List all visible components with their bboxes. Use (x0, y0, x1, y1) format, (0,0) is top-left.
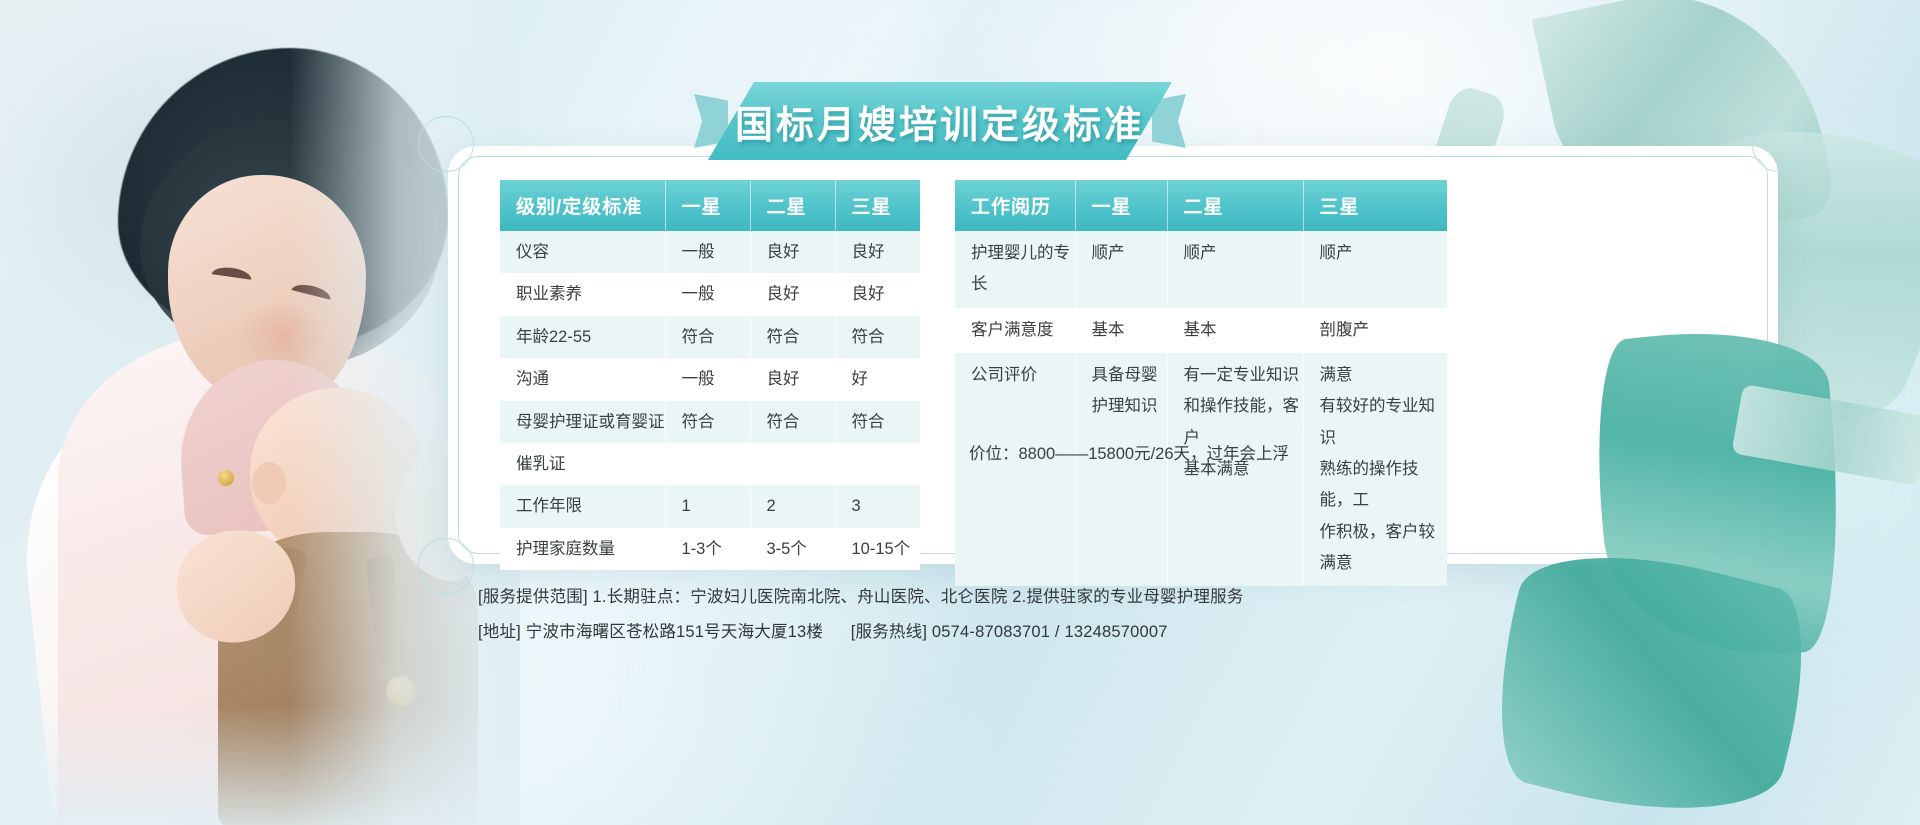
photo-edge-fade (0, 705, 520, 825)
cell-one-star: 一般 (665, 358, 750, 400)
table-row: 公司评价 具备母婴护理知识 有一定专业知识和操作技能，客户基本满意 满意有较好的… (955, 353, 1447, 586)
table-row: 职业素养 一般 良好 良好 (500, 273, 920, 315)
table-row: 客户满意度 基本 基本 剖腹产 (955, 308, 1447, 353)
row-label: 公司评价 (955, 353, 1075, 586)
table-row: 年龄22-55 符合 符合 符合 (500, 316, 920, 358)
price-note: 价位：8800——15800元/26天，过年会上浮 (955, 425, 1447, 464)
cell-two-star: 有一定专业知识和操作技能，客户基本满意 (1167, 353, 1303, 586)
cell-one-star: 基本 (1075, 308, 1167, 353)
row-label: 护理家庭数量 (500, 528, 665, 570)
row-label: 催乳证 (500, 443, 665, 485)
cell-one-star: 1-3个 (665, 528, 750, 570)
table-body: 仪容 一般 良好 良好 职业素养 一般 良好 良好 年龄22-55 符合 符合 … (500, 231, 920, 570)
cell-three-star: 剖腹产 (1303, 308, 1447, 353)
card-corner-notch (418, 116, 474, 172)
table-header: 工作阅历 一星 二星 三星 (955, 180, 1447, 231)
service-scope-line: [服务提供范围] 1.长期驻点：宁波妇儿医院南北院、舟山医院、北仑医院 2.提供… (478, 580, 1478, 615)
cell-three-star: 10-15个 (835, 528, 920, 570)
row-label: 仪容 (500, 231, 665, 273)
column-header-two-star[interactable]: 二星 (750, 180, 835, 231)
cell-one-star: 具备母婴护理知识 (1075, 353, 1167, 586)
table-row: 催乳证 (500, 443, 920, 485)
cell-three-star: 符合 (835, 316, 920, 358)
column-header-experience[interactable]: 工作阅历 (955, 180, 1075, 231)
column-header-one-star[interactable]: 一星 (665, 180, 750, 231)
cell-three-star: 良好 (835, 273, 920, 315)
cell-one-star: 顺产 (1075, 231, 1167, 308)
title-ribbon: 国标月嫂培训定级标准 (700, 82, 1180, 160)
row-label: 客户满意度 (955, 308, 1075, 353)
header-row: 工作阅历 一星 二星 三星 (955, 180, 1447, 231)
card-corner-notch (418, 538, 474, 594)
cell-two-star: 良好 (750, 273, 835, 315)
row-label: 母婴护理证或育婴证 (500, 401, 665, 443)
cell-three-star: 顺产 (1303, 231, 1447, 308)
cell-one-star: 一般 (665, 273, 750, 315)
header-row: 级别/定级标准 一星 二星 三星 (500, 180, 920, 231)
work-experience-table: 工作阅历 一星 二星 三星 护理婴儿的专长 顺产 顺产 顺产 客户满意度 基本 … (955, 180, 1447, 586)
baby-ear (252, 462, 286, 504)
title-banner: 国标月嫂培训定级标准 (708, 82, 1172, 160)
cell-one-star (665, 443, 750, 485)
row-label: 职业素养 (500, 273, 665, 315)
cell-three-star: 好 (835, 358, 920, 400)
column-header-three-star[interactable]: 三星 (835, 180, 920, 231)
table-body: 护理婴儿的专长 顺产 顺产 顺产 客户满意度 基本 基本 剖腹产 公司评价 具备… (955, 231, 1447, 586)
lapel-pin (218, 470, 234, 486)
hotline-text[interactable]: [服务热线] 0574-87083701 / 13248570007 (851, 623, 1168, 641)
column-header-two-star[interactable]: 二星 (1167, 180, 1303, 231)
column-header-criteria[interactable]: 级别/定级标准 (500, 180, 665, 231)
cell-three-star: 满意有较好的专业知识熟练的操作技能，工作积极，客户较满意 (1303, 353, 1447, 586)
cell-two-star: 良好 (750, 358, 835, 400)
table-row: 护理婴儿的专长 顺产 顺产 顺产 (955, 231, 1447, 308)
row-label: 沟通 (500, 358, 665, 400)
card-corner-notch (1752, 116, 1808, 172)
cell-three-star: 符合 (835, 401, 920, 443)
address-text: [地址] 宁波市海曙区苍松路151号天海大厦13楼 (478, 623, 823, 641)
cell-two-star: 符合 (750, 401, 835, 443)
table-header: 级别/定级标准 一星 二星 三星 (500, 180, 920, 231)
cell-one-star: 符合 (665, 316, 750, 358)
cell-two-star: 良好 (750, 231, 835, 273)
cell-two-star: 基本 (1167, 308, 1303, 353)
column-header-one-star[interactable]: 一星 (1075, 180, 1167, 231)
cell-three-star: 3 (835, 485, 920, 527)
cell-two-star: 符合 (750, 316, 835, 358)
cell-two-star (750, 443, 835, 485)
page-title: 国标月嫂培训定级标准 (735, 94, 1145, 149)
cell-three-star (835, 443, 920, 485)
cell-one-star: 1 (665, 485, 750, 527)
address-hotline-line: [地址] 宁波市海曙区苍松路151号天海大厦13楼 [服务热线] 0574-87… (478, 615, 1478, 650)
table-row: 工作年限 1 2 3 (500, 485, 920, 527)
table-row: 母婴护理证或育婴证 符合 符合 符合 (500, 401, 920, 443)
table-row: 仪容 一般 良好 良好 (500, 231, 920, 273)
cell-two-star: 2 (750, 485, 835, 527)
table-row: 护理家庭数量 1-3个 3-5个 10-15个 (500, 528, 920, 570)
row-label: 工作年限 (500, 485, 665, 527)
table-row: 沟通 一般 良好 好 (500, 358, 920, 400)
cell-three-star: 良好 (835, 231, 920, 273)
cell-two-star: 顺产 (1167, 231, 1303, 308)
footer: [服务提供范围] 1.长期驻点：宁波妇儿医院南北院、舟山医院、北仑医院 2.提供… (478, 580, 1478, 649)
row-label: 护理婴儿的专长 (955, 231, 1075, 308)
cell-two-star: 3-5个 (750, 528, 835, 570)
cell-one-star: 符合 (665, 401, 750, 443)
row-label: 年龄22-55 (500, 316, 665, 358)
column-header-three-star[interactable]: 三星 (1303, 180, 1447, 231)
cell-one-star: 一般 (665, 231, 750, 273)
grading-standard-table: 级别/定级标准 一星 二星 三星 仪容 一般 良好 良好 职业素养 一般 良好 … (500, 180, 920, 570)
